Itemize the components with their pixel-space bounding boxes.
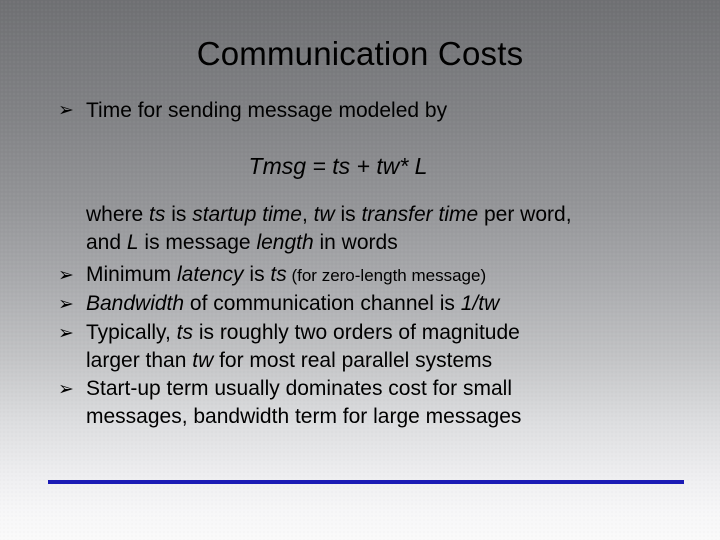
bullet-5-line2: messages, bandwidth term for large messa… [86, 405, 521, 428]
var-tw: tw [314, 203, 335, 226]
bullet-marker-icon: ➢ [58, 290, 86, 319]
var-ts: ts [149, 203, 165, 226]
bullet-4-line2-rest: for most real parallel systems [213, 349, 492, 372]
footer-divider [48, 480, 684, 484]
bullet-2-text: Minimum latency is ts (for zero-length m… [86, 261, 698, 290]
bullet-marker-icon: ➢ [58, 375, 86, 404]
bullet-4-line1-rest: is roughly two orders of magnitude [193, 321, 520, 344]
where-line-2: and L is message length in words [86, 229, 698, 257]
bullet-2-is: is [244, 263, 271, 286]
bullet-item-4: ➢ Typically, ts is roughly two orders of… [58, 319, 698, 375]
where-is-1: is [165, 203, 192, 226]
bullet-5-line1: Start-up term usually dominates cost for… [86, 377, 512, 400]
bullet-5-text: Start-up term usually dominates cost for… [86, 375, 698, 431]
var-ts: ts [270, 263, 286, 286]
where-is-2: is [335, 203, 362, 226]
bullet-1-text: Time for sending message modeled by [86, 96, 698, 125]
bullet-3-text: Bandwidth of communication channel is 1/… [86, 290, 698, 318]
bullet-marker-icon: ➢ [58, 96, 86, 125]
term-latency: latency [177, 263, 244, 286]
bullet-3-middle: of communication channel is [184, 292, 461, 315]
var-tw: tw [192, 349, 213, 372]
where-comma: , [302, 203, 314, 226]
term-startup-time: startup time [192, 203, 302, 226]
expr-one-over-tw: 1/tw [461, 292, 500, 315]
bullet-marker-icon: ➢ [58, 261, 86, 290]
where-is-message: is message [139, 231, 257, 254]
bullet-2-prefix: Minimum [86, 263, 177, 286]
term-transfer-time: transfer time [361, 203, 478, 226]
slide-footer: Course on Parallel Numerical Simulation … [0, 488, 720, 540]
formula-tmsg: Tmsg = ts + tw* L [58, 151, 698, 181]
bullet-4-text: Typically, ts is roughly two orders of m… [86, 319, 698, 375]
bullet-item-5: ➢ Start-up term usually dominates cost f… [58, 375, 698, 431]
bullet-item-2: ➢ Minimum latency is ts (for zero-length… [58, 261, 698, 290]
where-prefix: where [86, 203, 149, 226]
var-ts: ts [177, 321, 193, 344]
bullet-item-3: ➢ Bandwidth of communication channel is … [58, 290, 698, 319]
term-bandwidth: Bandwidth [86, 292, 184, 315]
term-length: length [256, 231, 313, 254]
where-and: and [86, 231, 127, 254]
slide-title: Communication Costs [0, 34, 720, 74]
presentation-slide: Communication Costs ➢ Time for sending m… [0, 0, 720, 540]
spacer [58, 181, 698, 201]
where-in-words: in words [314, 231, 398, 254]
bullet-marker-icon: ➢ [58, 319, 86, 348]
var-L: L [127, 231, 139, 254]
bullet-4-prefix: Typically, [86, 321, 177, 344]
bullet-item-1: ➢ Time for sending message modeled by [58, 96, 698, 125]
where-line-1: where ts is startup time, tw is transfer… [86, 201, 698, 229]
bullet-2-note: (for zero-length message) [287, 266, 486, 285]
where-explanation: where ts is startup time, tw is transfer… [58, 201, 698, 257]
where-per-word: per word, [478, 203, 571, 226]
bullet-4-line2-prefix: larger than [86, 349, 192, 372]
spacer [58, 125, 698, 151]
slide-body: ➢ Time for sending message modeled by Tm… [58, 96, 698, 431]
